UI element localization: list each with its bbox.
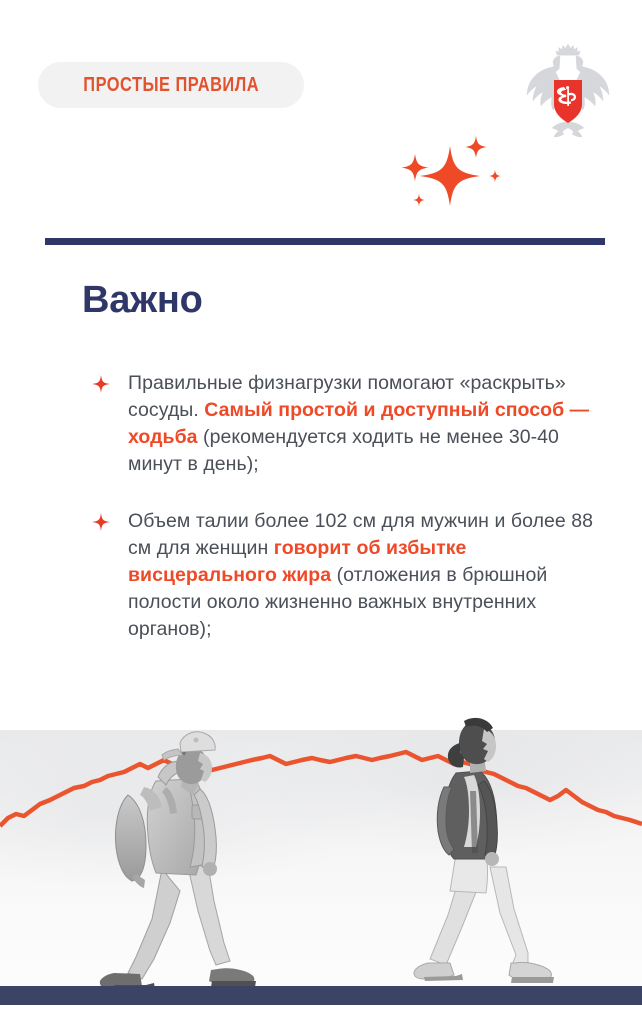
list-item: Объем талии более 102 см для мужчин и бо… [0, 508, 642, 643]
photo-band [0, 660, 642, 1005]
list-item: Правильные физнагрузки помогают «раскрыт… [0, 370, 642, 478]
navy-divider-rule [45, 238, 605, 245]
category-badge-label: ПРОСТЫЕ ПРАВИЛА [83, 75, 259, 95]
header: ПРОСТЫЕ ПРАВИЛА [0, 0, 642, 230]
list-item-text: Объем талии более 102 см для мужчин и бо… [128, 508, 602, 643]
footer-bar [0, 986, 642, 1005]
walking-woman-photo [404, 701, 589, 991]
walking-man-photo [88, 691, 288, 991]
important-points-list: Правильные физнагрузки помогают «раскрыт… [0, 322, 642, 643]
star-bullet-icon [92, 375, 110, 393]
category-badge: ПРОСТЫЕ ПРАВИЛА [38, 62, 304, 108]
star-bullet-icon [92, 513, 110, 531]
page-title: Важно [0, 280, 642, 322]
russian-ministry-of-health-emblem [520, 40, 616, 144]
list-item-text: Правильные физнагрузки помогают «раскрыт… [128, 370, 602, 478]
sparkle-stars-decoration [388, 132, 508, 228]
main-content: Важно Правильные физнагрузки помогают «р… [0, 280, 642, 673]
